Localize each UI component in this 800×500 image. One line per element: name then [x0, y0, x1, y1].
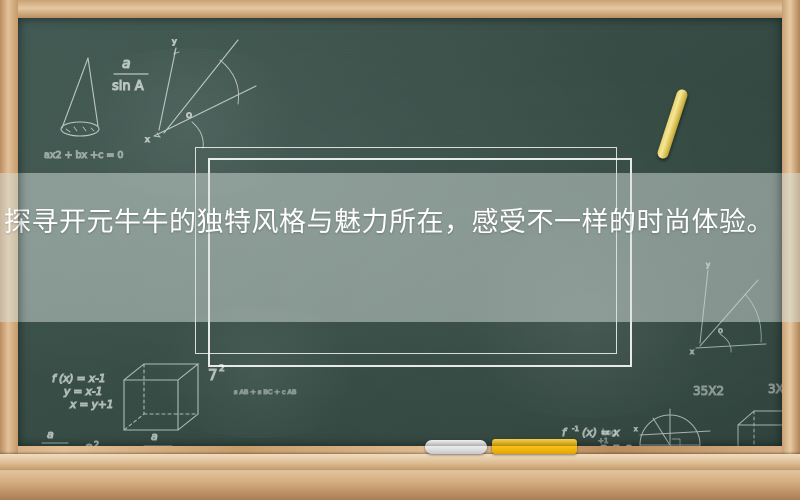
svg-text:x: x — [634, 426, 638, 433]
yellow-eraser — [492, 439, 577, 454]
page-title: 探寻开元牛牛的独特风格与魅力所在，感受不一样的时尚体验。 — [4, 196, 800, 250]
svg-text:3X2: 3X2 — [768, 382, 782, 396]
decorative-rectangle-inner — [208, 158, 632, 367]
frame-right-rail — [782, 0, 800, 500]
frame-top-rail — [0, 0, 800, 18]
chalk-ledge — [0, 454, 800, 470]
svg-text:Log: Log — [602, 428, 616, 437]
svg-text:35X2: 35X2 — [693, 384, 724, 398]
white-chalk-stick — [425, 440, 487, 454]
chalkboard-banner: a sin A y x o ax2 + bx +c = 0 f — [0, 0, 800, 500]
frame-left-rail — [0, 0, 18, 500]
svg-text:+1: +1 — [598, 437, 608, 445]
frame-bottom-rail — [0, 470, 800, 500]
